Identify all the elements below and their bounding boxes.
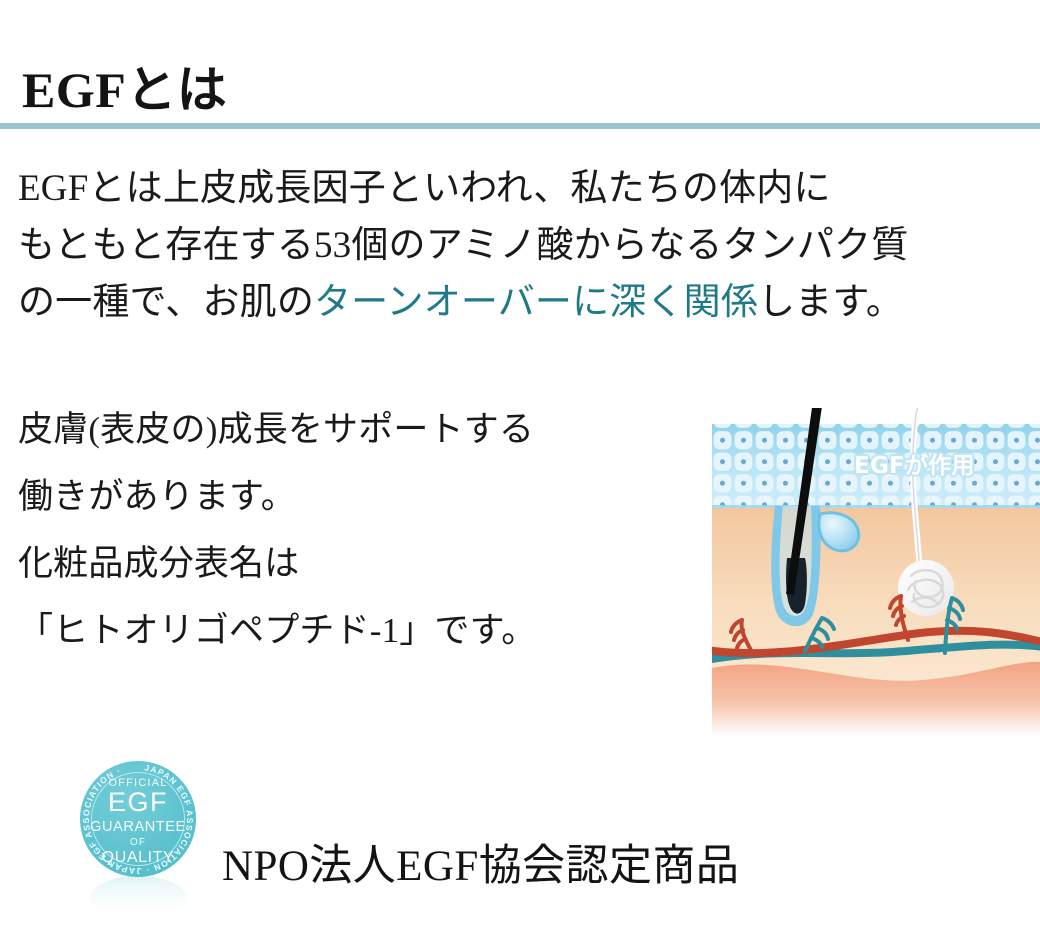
epidermal-cells [712, 424, 1040, 508]
intro-line-1: EGFとは上皮成長因子といわれ、私たちの体内に [18, 160, 1033, 217]
intro-line-3-suffix: します。 [758, 282, 903, 323]
body-line-4: 「ヒトオリゴペプチド-1」です。 [18, 597, 658, 664]
seal-acronym-text: EGF [108, 787, 168, 817]
certification-caption: NPO法人EGF協会認定商品 [222, 843, 739, 890]
seal-svg: JAPAN EGF ASSOCIATION · JAPAN EGF ASSOCI… [58, 752, 218, 922]
seal-of-text: OF [130, 837, 146, 848]
body-line-1: 皮膚(表皮の)成長をサポートする [18, 396, 658, 463]
seal-quality-text: QUALITY [102, 849, 175, 866]
intro-line-3: の一種で、お肌のターンオーバーに深く関係します。 [18, 274, 1033, 331]
seal-guarantee-text: GUARANTEE [90, 819, 186, 835]
body-copy: 皮膚(表皮の)成長をサポートする 働きがあります。 化粧品成分表名は 「ヒトオリ… [18, 396, 658, 664]
skin-diagram-svg [712, 408, 1040, 736]
turnover-emphasis: ターンオーバーに深く関係 [314, 282, 758, 323]
seal-reflection [90, 876, 186, 920]
egf-certification-seal: JAPAN EGF ASSOCIATION · JAPAN EGF ASSOCI… [58, 752, 218, 922]
intro-line-3-prefix: の一種で、お肌の [18, 282, 314, 323]
title-divider [0, 123, 1040, 129]
intro-paragraph: EGFとは上皮成長因子といわれ、私たちの体内に もともと存在する53個のアミノ酸… [18, 160, 1033, 331]
body-line-3: 化粧品成分表名は [18, 530, 658, 597]
sweat-gland-coil [898, 560, 954, 616]
basement-membrane [712, 505, 1040, 508]
body-line-2: 働きがあります。 [18, 463, 658, 530]
skin-cross-section-diagram: EGFが作用 [712, 408, 1040, 736]
page-title: EGFとは [22, 64, 227, 117]
intro-line-2: もともと存在する53個のアミノ酸からなるタンパク質 [18, 217, 1033, 274]
